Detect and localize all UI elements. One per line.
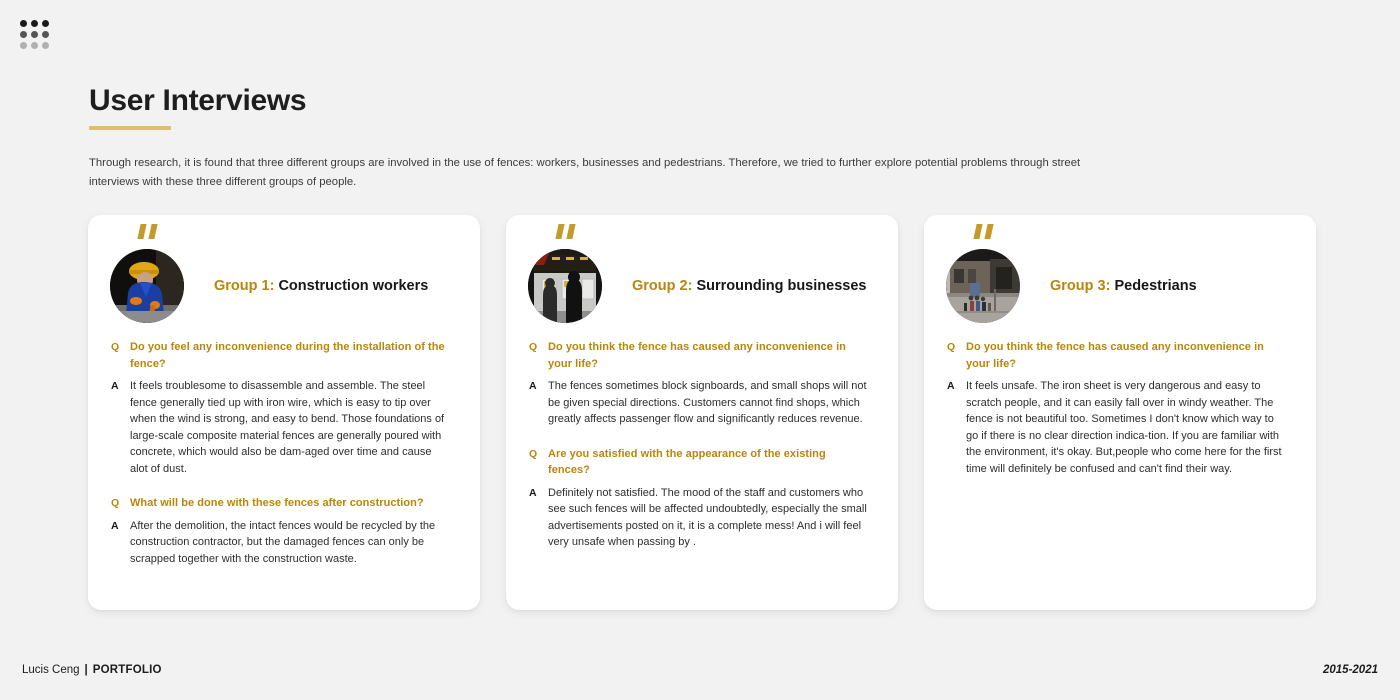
group-label: Group 2: Surrounding businesses bbox=[632, 278, 866, 294]
group-name: Surrounding businesses bbox=[696, 278, 866, 294]
footer-left: Lucis Ceng | PORTFOLIO bbox=[22, 664, 162, 676]
question-text: Are you satisfied with the appearance of… bbox=[548, 446, 870, 479]
interview-card: Group 3: Pedestrians Q Do you think the … bbox=[924, 215, 1316, 610]
question-row: Q What will be done with these fences af… bbox=[110, 495, 458, 512]
footer-brand: PORTFOLIO bbox=[93, 664, 162, 676]
answer-row: A It feels troublesome to disassemble an… bbox=[110, 378, 458, 477]
question-marker: Q bbox=[946, 339, 966, 356]
group-name: Pedestrians bbox=[1114, 278, 1196, 294]
question-marker: Q bbox=[528, 446, 548, 463]
card-header: Group 1: Construction workers bbox=[110, 215, 458, 333]
qa-block: Q Do you feel any inconvenience during t… bbox=[110, 339, 458, 477]
group-number: Group 1: bbox=[214, 278, 274, 294]
answer-text: It feels troublesome to disassemble and … bbox=[130, 378, 448, 477]
question-text: Do you think the fence has caused any in… bbox=[966, 339, 1284, 372]
question-text: What will be done with these fences afte… bbox=[130, 495, 448, 512]
logo-dot bbox=[20, 20, 27, 27]
answer-text: It feels unsafe. The iron sheet is very … bbox=[966, 378, 1284, 477]
question-marker: Q bbox=[110, 339, 130, 356]
question-text: Do you think the fence has caused any in… bbox=[548, 339, 870, 372]
logo-dot bbox=[31, 42, 38, 49]
question-row: Q Are you satisfied with the appearance … bbox=[528, 446, 876, 479]
question-marker: Q bbox=[528, 339, 548, 356]
question-marker: Q bbox=[110, 495, 130, 512]
interview-card: Group 1: Construction workers Q Do you f… bbox=[88, 215, 480, 610]
interview-card: Group 2: Surrounding businesses Q Do you… bbox=[506, 215, 898, 610]
answer-row: A It feels unsafe. The iron sheet is ver… bbox=[946, 378, 1294, 477]
title-accent-rule bbox=[89, 126, 171, 130]
dot-grid-logo bbox=[20, 20, 49, 49]
logo-dot bbox=[20, 31, 27, 38]
logo-dot bbox=[42, 20, 49, 27]
footer-author: Lucis Ceng bbox=[22, 664, 80, 676]
logo-dot bbox=[42, 31, 49, 38]
qa-block: Q Are you satisfied with the appearance … bbox=[528, 446, 876, 551]
avatar bbox=[110, 249, 184, 323]
answer-marker: A bbox=[528, 378, 548, 395]
logo-dot bbox=[31, 20, 38, 27]
qa-block: Q What will be done with these fences af… bbox=[110, 495, 458, 567]
footer-separator: | bbox=[85, 664, 88, 676]
group-number: Group 2: bbox=[632, 278, 692, 294]
answer-row: A After the demolition, the intact fence… bbox=[110, 518, 458, 568]
question-row: Q Do you think the fence has caused any … bbox=[946, 339, 1294, 372]
answer-text: After the demolition, the intact fences … bbox=[130, 518, 448, 568]
group-number: Group 3: bbox=[1050, 278, 1110, 294]
group-name: Construction workers bbox=[278, 278, 428, 294]
qa-block: Q Do you think the fence has caused any … bbox=[946, 339, 1294, 477]
logo-dot bbox=[20, 42, 27, 49]
group-label: Group 3: Pedestrians bbox=[1050, 278, 1197, 294]
question-text: Do you feel any inconvenience during the… bbox=[130, 339, 448, 372]
answer-row: A The fences sometimes block signboards,… bbox=[528, 378, 876, 428]
qa-block: Q Do you think the fence has caused any … bbox=[528, 339, 876, 428]
answer-text: The fences sometimes block signboards, a… bbox=[548, 378, 870, 428]
intro-paragraph: Through research, it is found that three… bbox=[89, 154, 1113, 191]
answer-row: A Definitely not satisfied. The mood of … bbox=[528, 485, 876, 551]
page-title: User Interviews bbox=[89, 84, 306, 118]
card-header: Group 3: Pedestrians bbox=[946, 215, 1294, 333]
answer-marker: A bbox=[110, 518, 130, 535]
footer-years: 2015-2021 bbox=[1323, 664, 1378, 676]
logo-dot bbox=[31, 31, 38, 38]
question-row: Q Do you feel any inconvenience during t… bbox=[110, 339, 458, 372]
slide-page: User Interviews Through research, it is … bbox=[0, 0, 1400, 700]
answer-text: Definitely not satisfied. The mood of th… bbox=[548, 485, 870, 551]
answer-marker: A bbox=[528, 485, 548, 502]
answer-marker: A bbox=[946, 378, 966, 395]
question-row: Q Do you think the fence has caused any … bbox=[528, 339, 876, 372]
answer-marker: A bbox=[110, 378, 130, 395]
group-label: Group 1: Construction workers bbox=[214, 278, 428, 294]
interview-card-list: Group 1: Construction workers Q Do you f… bbox=[88, 215, 1316, 610]
card-header: Group 2: Surrounding businesses bbox=[528, 215, 876, 333]
logo-dot bbox=[42, 42, 49, 49]
avatar bbox=[946, 249, 1020, 323]
avatar bbox=[528, 249, 602, 323]
